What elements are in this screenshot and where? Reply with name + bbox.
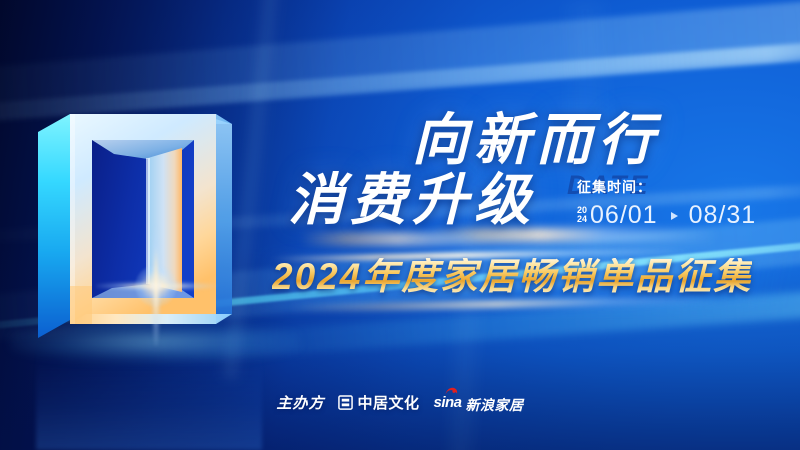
portal-door-graphic (36, 96, 256, 346)
sponsor-label: 主办方 (276, 392, 324, 413)
sponsor-zhongju: 中居文化 (338, 392, 419, 413)
zhongju-logo-icon (338, 395, 353, 410)
sina-eye-icon (445, 387, 458, 396)
year-bottom: 24 (577, 215, 587, 224)
portal-door-icon (36, 96, 256, 346)
sponsor-bar: 主办方 中居文化 sina 新浪家居 (0, 392, 800, 413)
date-range: 20 24 06/01 08/31 (577, 203, 756, 228)
headline-glow (300, 232, 560, 246)
sponsor-sina: sina 新浪家居 (434, 394, 524, 412)
promo-banner: 向新而行 消费升级 DATE 征集时间： 20 24 06/01 08/31 2… (0, 0, 800, 450)
date-block: 征集时间： 20 24 06/01 08/31 (577, 180, 756, 228)
zhongju-name: 中居文化 (357, 392, 419, 413)
light-flare-icon (154, 284, 158, 288)
arrow-right-icon (671, 212, 678, 220)
date-label: 征集时间： (577, 180, 756, 194)
headline-line-1: 向新而行 (412, 112, 660, 168)
sina-wordmark: sina (434, 394, 462, 411)
date-start: 06/01 (590, 203, 658, 228)
sina-logo: sina (434, 394, 462, 412)
year-stack: 20 24 (577, 206, 587, 226)
subtitle-text: 2024年度家居畅销单品征集 (272, 258, 752, 295)
date-end: 08/31 (689, 203, 757, 228)
headline-line-2: 消费升级 (288, 172, 536, 228)
sina-name: 新浪家居 (466, 398, 524, 412)
